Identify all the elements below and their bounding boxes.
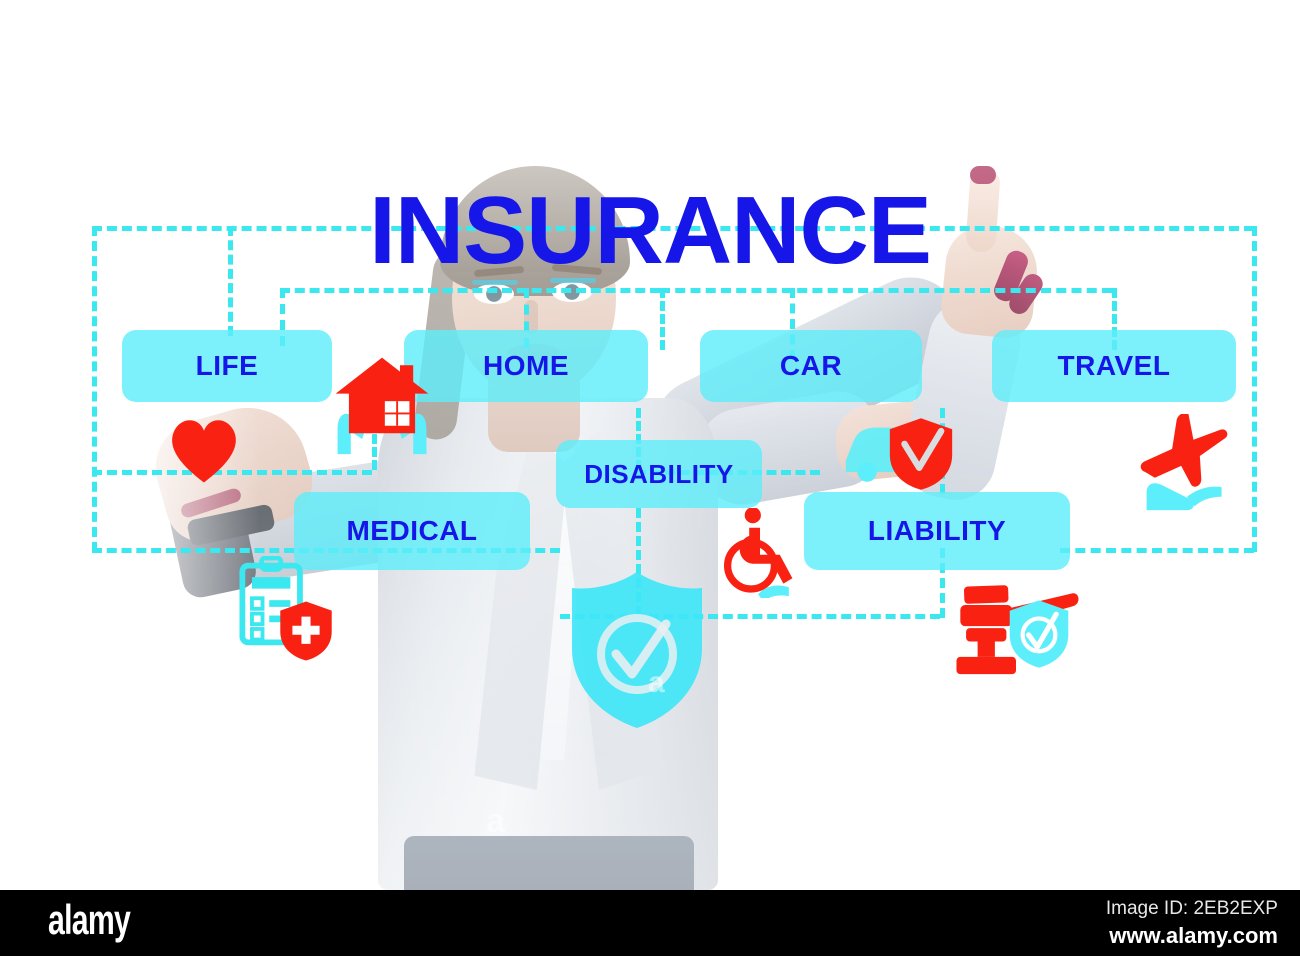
dash-inner-top-right bbox=[660, 288, 1112, 293]
shield-check-icon bbox=[566, 570, 708, 730]
dash-outer-bottom-r bbox=[1060, 548, 1254, 553]
skirt bbox=[404, 836, 694, 890]
button-medical-label: MEDICAL bbox=[346, 515, 477, 547]
stock-footer-bar: alamy Image ID: 2EB2EXP www.alamy.com bbox=[0, 890, 1300, 956]
gavel-icon bbox=[950, 582, 1082, 678]
button-home[interactable]: HOME bbox=[404, 330, 648, 402]
button-liability[interactable]: LIABILITY bbox=[804, 492, 1070, 570]
plane-icon bbox=[1132, 414, 1240, 514]
alamy-site-label: www.alamy.com bbox=[1109, 923, 1278, 949]
dash-drop-car bbox=[660, 288, 665, 350]
clipboard-icon bbox=[236, 556, 314, 652]
car-icon bbox=[840, 404, 956, 488]
eye-left bbox=[474, 284, 514, 304]
button-home-label: HOME bbox=[483, 350, 569, 382]
button-life-label: LIFE bbox=[196, 350, 259, 382]
heart-icon bbox=[166, 414, 242, 484]
button-disability-label: DISABILITY bbox=[584, 459, 733, 490]
house-icon bbox=[330, 352, 434, 456]
insurance-concept-image: INSURANCE LIFE HOME CAR TRAVEL MEDICAL D… bbox=[0, 0, 1300, 956]
button-car-label: CAR bbox=[780, 350, 842, 382]
button-travel-label: TRAVEL bbox=[1058, 350, 1171, 382]
button-medical[interactable]: MEDICAL bbox=[294, 492, 530, 570]
wheelchair-icon bbox=[722, 508, 798, 598]
alamy-logo: alamy bbox=[48, 896, 130, 944]
image-id-label: Image ID: 2EB2EXP bbox=[1106, 898, 1278, 920]
button-travel[interactable]: TRAVEL bbox=[992, 330, 1236, 402]
car-shield-icon bbox=[888, 416, 954, 492]
page-title: INSURANCE bbox=[0, 176, 1300, 286]
dash-inner-top-left bbox=[280, 288, 660, 293]
button-liability-label: LIABILITY bbox=[868, 515, 1006, 547]
gavel-shield-icon bbox=[1008, 598, 1070, 670]
button-car[interactable]: CAR bbox=[700, 330, 922, 402]
hands-icon bbox=[1147, 483, 1222, 510]
medical-shield-icon bbox=[278, 600, 334, 662]
button-disability[interactable]: DISABILITY bbox=[556, 440, 762, 508]
button-life[interactable]: LIFE bbox=[122, 330, 332, 402]
